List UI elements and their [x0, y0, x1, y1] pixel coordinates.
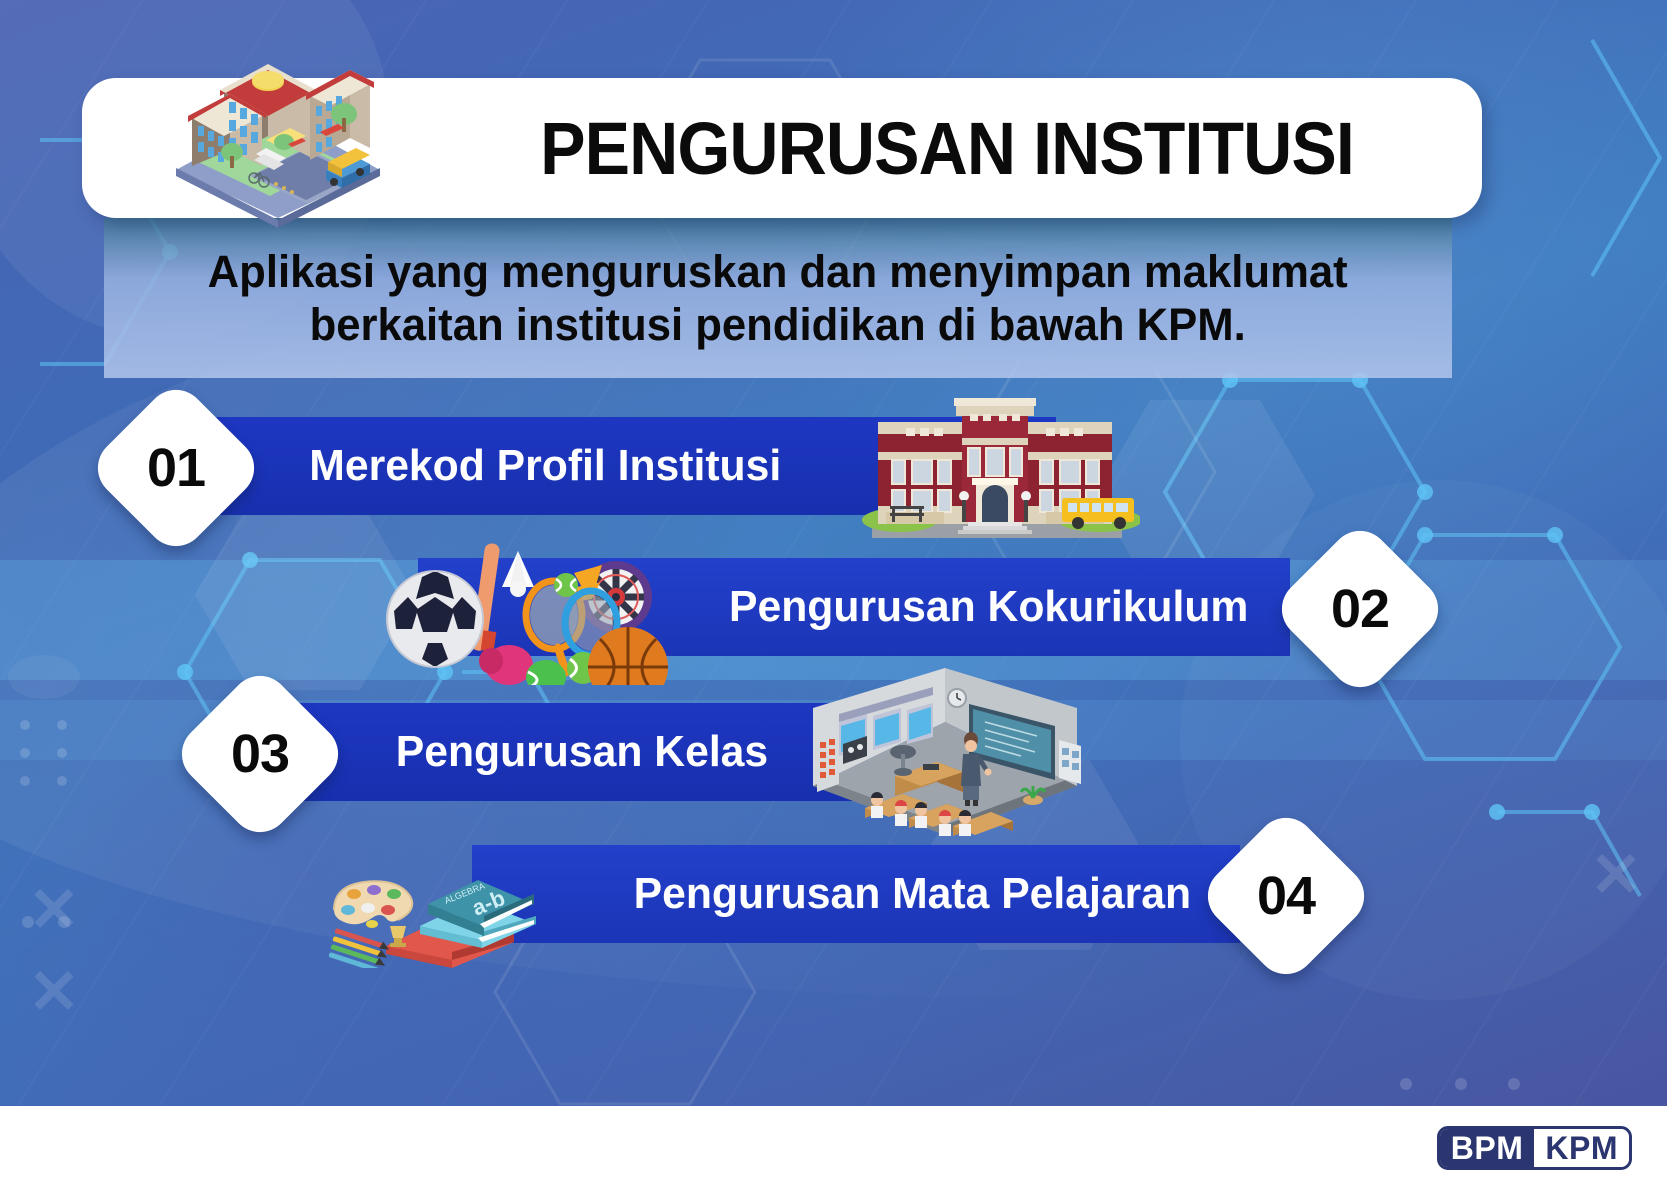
item-label-03: Pengurusan Kelas: [396, 727, 768, 777]
item-bar-01[interactable]: Merekod Profil Institusi: [196, 417, 1056, 515]
item-number-01: 01: [112, 404, 240, 532]
background-x-mark-2: ✕: [28, 962, 80, 1024]
background-dot: [57, 776, 67, 786]
item-label-04: Pengurusan Mata Pelajaran: [634, 869, 1191, 919]
title-card: PENGURUSAN INSTITUSI: [82, 78, 1482, 218]
item-badge-04[interactable]: 04: [1195, 805, 1376, 986]
background-dot: [57, 720, 67, 730]
background-dot: [1455, 1078, 1467, 1090]
item-badge-02[interactable]: 02: [1269, 518, 1450, 699]
background-dot: [20, 776, 30, 786]
item-number-03: 03: [196, 690, 324, 818]
background-dot: [1400, 1078, 1412, 1090]
bpm-kpm-logo: BPM KPM: [1437, 1126, 1632, 1170]
background-dot: [22, 916, 34, 928]
footer: BPM KPM: [0, 1106, 1667, 1189]
background-x-mark-1: ✕: [28, 880, 80, 942]
item-badge-03[interactable]: 03: [169, 663, 350, 844]
item-number-02: 02: [1296, 545, 1424, 673]
item-number-04: 04: [1222, 832, 1350, 960]
background-dot: [20, 720, 30, 730]
logo-bpm-text: BPM: [1440, 1129, 1535, 1167]
item-badge-01[interactable]: 01: [85, 377, 266, 558]
background-dot: [20, 748, 30, 758]
subtitle-band: Aplikasi yang menguruskan dan menyimpan …: [104, 218, 1452, 378]
background-x-mark-3: ✕: [1590, 845, 1642, 907]
item-bar-03[interactable]: Pengurusan Kelas: [280, 703, 960, 801]
page-title: PENGURUSAN INSTITUSI: [492, 78, 1403, 218]
item-bar-04[interactable]: Pengurusan Mata Pelajaran: [472, 845, 1240, 943]
background-dot: [1508, 1078, 1520, 1090]
background-dot: [57, 748, 67, 758]
logo-kpm-text: KPM: [1534, 1129, 1629, 1167]
item-label-02: Pengurusan Kokurikulum: [729, 582, 1248, 632]
background-dot: [58, 916, 70, 928]
item-label-01: Merekod Profil Institusi: [309, 441, 781, 491]
subtitle-text: Aplikasi yang menguruskan dan menyimpan …: [208, 245, 1348, 351]
item-bar-02[interactable]: Pengurusan Kokurikulum: [418, 558, 1290, 656]
